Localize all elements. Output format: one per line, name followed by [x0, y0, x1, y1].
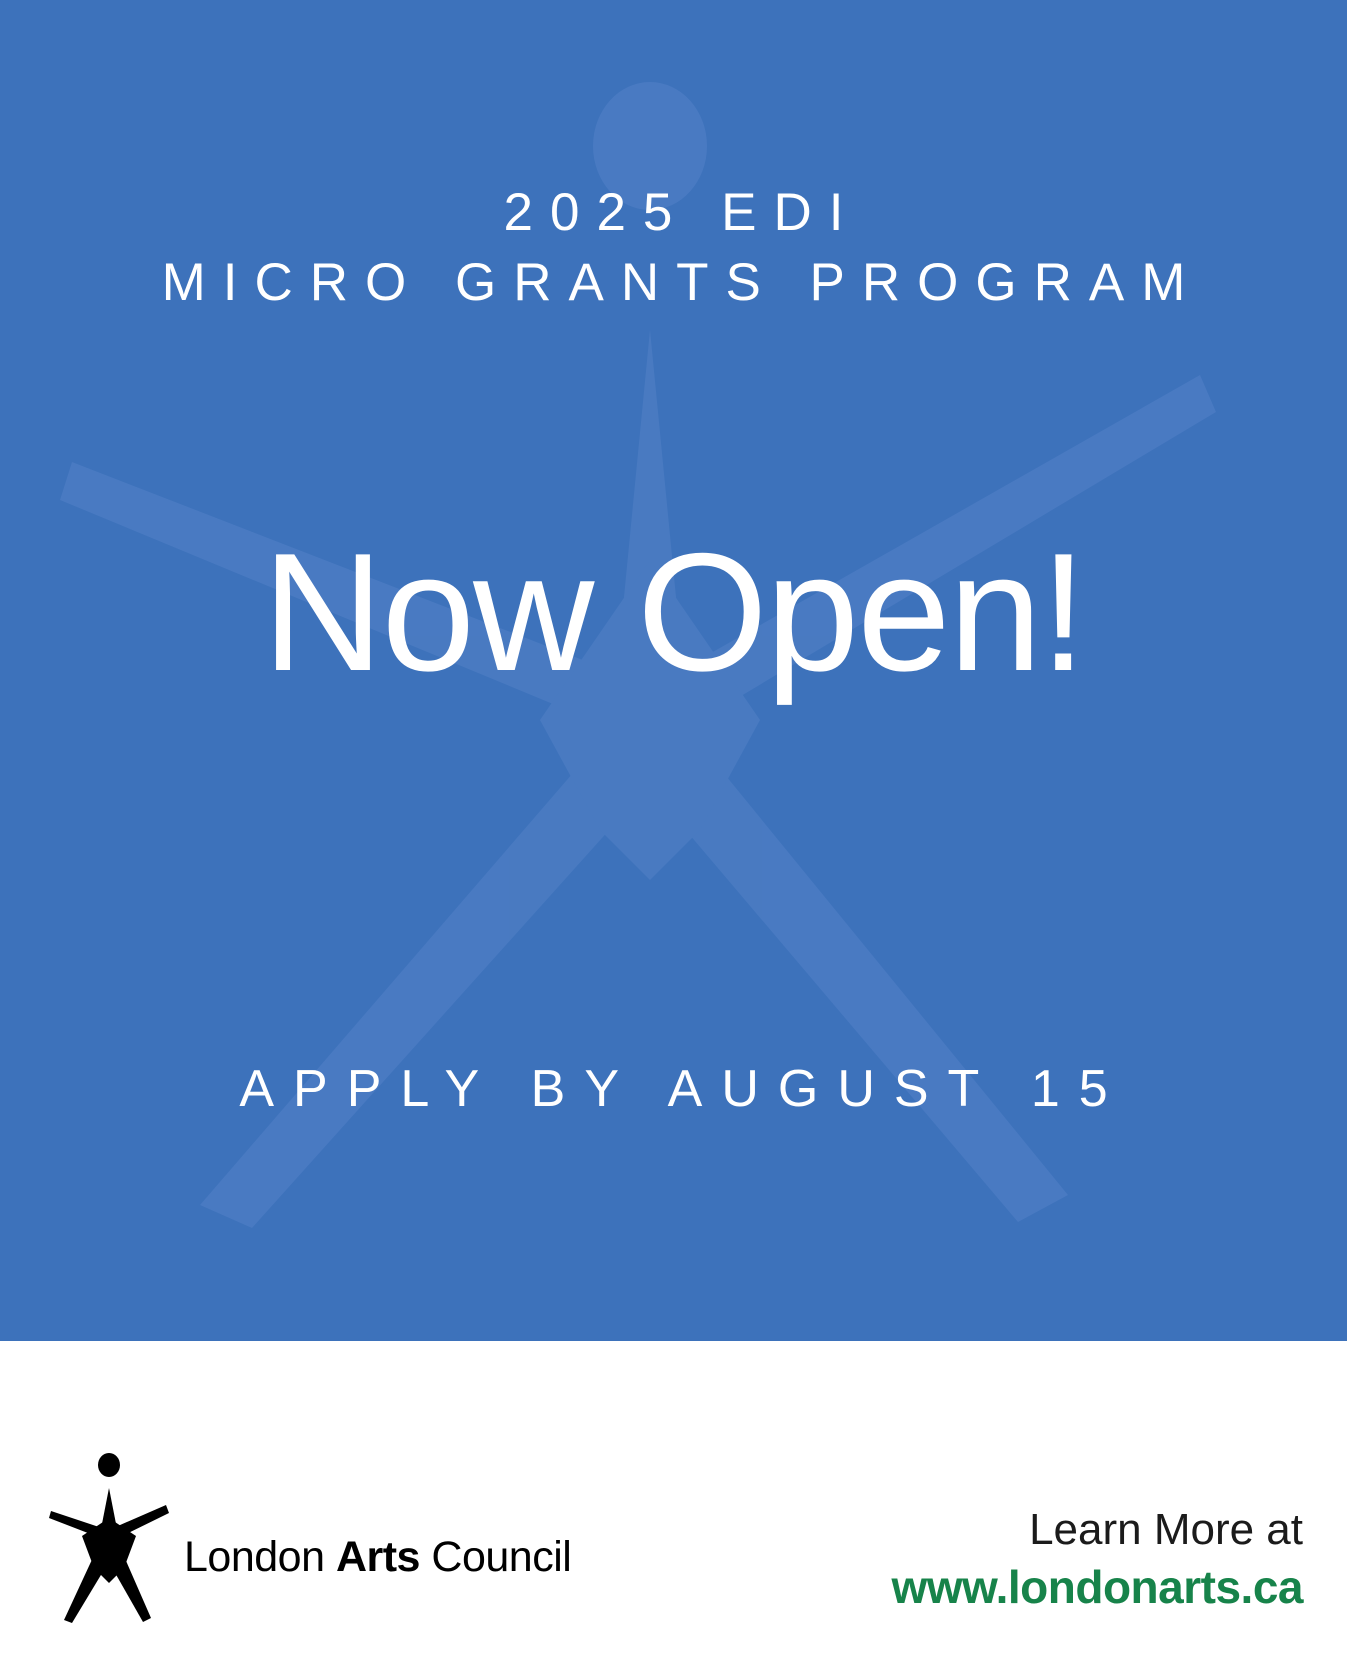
program-name-label: MICRO GRANTS PROGRAM: [0, 252, 1347, 313]
hero-content: 2025 EDI MICRO GRANTS PROGRAM Now Open! …: [0, 0, 1347, 1341]
headline-now-open: Now Open!: [0, 528, 1347, 696]
poster-canvas: 2025 EDI MICRO GRANTS PROGRAM Now Open! …: [0, 0, 1347, 1679]
london-arts-council-logo[interactable]: London Arts Council: [48, 1448, 571, 1624]
learn-more-label: Learn More at: [891, 1504, 1303, 1556]
hero-panel: 2025 EDI MICRO GRANTS PROGRAM Now Open! …: [0, 0, 1347, 1341]
brand-prefix: London: [184, 1533, 336, 1581]
program-year-label: 2025 EDI: [0, 182, 1347, 243]
brand-suffix: Council: [420, 1533, 571, 1581]
application-deadline-label: APPLY BY AUGUST 15: [0, 1059, 1347, 1119]
brand-wordmark: London Arts Council: [184, 1491, 571, 1582]
star-person-icon: [48, 1448, 170, 1624]
learn-more-block: Learn More at www.londonarts.ca: [891, 1504, 1303, 1614]
website-link[interactable]: www.londonarts.ca: [891, 1560, 1303, 1614]
brand-emphasis: Arts: [336, 1533, 420, 1581]
